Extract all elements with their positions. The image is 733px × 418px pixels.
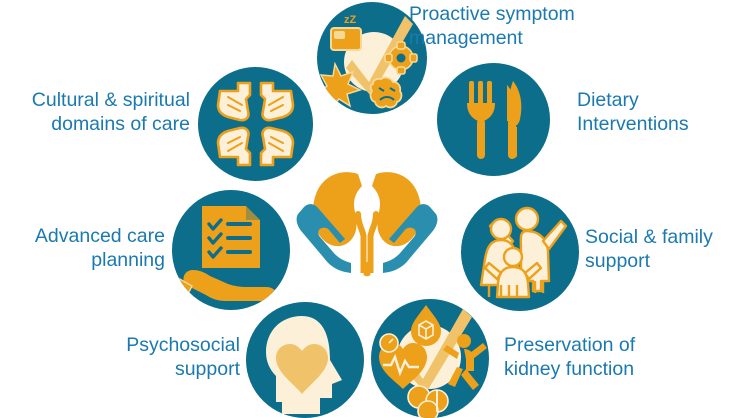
node-advanced-care-planning[interactable]	[172, 190, 290, 310]
four-hands-icon	[198, 67, 313, 181]
node-psychosocial-support[interactable]	[246, 302, 364, 418]
node-preservation-of-kidney-function[interactable]	[371, 299, 489, 418]
label-proactive-symptom-management: Proactive symptom management	[409, 2, 619, 50]
diagram-canvas: zZ Proactive symptom management	[0, 0, 733, 418]
label-social-family-support: Social & family support	[585, 225, 733, 273]
checklist-on-hand-icon	[172, 190, 290, 310]
head-with-heart-icon	[246, 302, 364, 418]
label-psychosocial-support: Psychosocial support	[80, 333, 240, 381]
center-kidneys-in-hands-icon	[296, 166, 438, 296]
node-social-family-support[interactable]	[461, 193, 579, 311]
svg-text:zZ: zZ	[344, 14, 357, 26]
fork-and-knife-icon	[437, 63, 550, 176]
family-group-icon	[461, 193, 579, 311]
checkmark-kidney-health-icon	[371, 299, 489, 418]
label-preservation-of-kidney-function: Preservation of kidney function	[504, 333, 719, 381]
node-dietary-interventions[interactable]	[437, 63, 550, 176]
label-dietary-interventions: Dietary Interventions	[577, 88, 733, 136]
label-advanced-care-planning: Advanced care planning	[5, 224, 165, 272]
node-cultural-spiritual-domains-of-care[interactable]	[198, 67, 313, 181]
label-cultural-spiritual-domains-of-care: Cultural & spiritual domains of care	[0, 88, 190, 136]
